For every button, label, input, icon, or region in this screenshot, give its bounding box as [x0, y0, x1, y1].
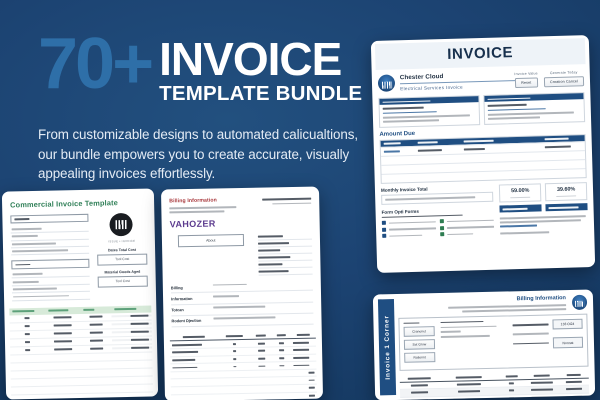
invoice-monthly-block: Monthly Invoice Total Form Opti Forms [381, 185, 495, 241]
summary-dark-buttons [500, 203, 588, 212]
billing-information-label: Billing Information [169, 197, 251, 205]
details-button[interactable] [500, 205, 542, 213]
checkbox-icon [382, 228, 386, 232]
right-field-value-0[interactable]: Tool Cost [97, 253, 147, 265]
hero-title-invoice: INVOICE [159, 38, 362, 80]
checkbox-icon [440, 233, 444, 237]
checkbox-icon [382, 234, 386, 238]
vahozer-header: Billing Information [161, 187, 319, 214]
rationnt-button[interactable]: Rationnt [404, 352, 435, 363]
submit-count-button[interactable] [546, 203, 588, 211]
address-heading-1[interactable] [11, 259, 89, 269]
invoice-items-table [380, 134, 587, 184]
checkbox-icon [440, 220, 444, 224]
vertical-card-body: Billing Information Cranenet Set Grow Ra… [398, 295, 589, 395]
invoice-note-block [500, 215, 588, 234]
invoice-action-col-0: Invoice Value Reset [514, 71, 538, 88]
percentage-box-0: 59.00% [499, 183, 541, 202]
invoice-brand-text: Chester Cloud Electrical Services Invoic… [400, 71, 515, 91]
right-field-label-0: Dates Total Cost [97, 247, 147, 252]
vahozer-items-table [170, 331, 318, 400]
vahozer-right-header [257, 196, 312, 212]
th-description [170, 333, 218, 340]
field-label: Information [171, 295, 213, 301]
commercial-top-area: ISSUE • INVOICE Dates Total Cost Tool Co… [2, 206, 156, 301]
form-options-label: Form Opti Forms [382, 206, 494, 214]
commercial-right-area: ISSUE • INVOICE Dates Total Cost Tool Co… [96, 213, 148, 300]
th-caport-sochint [400, 375, 439, 382]
th-reconntation [218, 333, 251, 340]
date-value[interactable]: 133 Oi24 [552, 318, 582, 329]
address-heading-0[interactable] [10, 214, 88, 224]
th-goods-option [45, 307, 81, 315]
vahozer-about-button[interactable]: About [178, 234, 244, 247]
th-detail [414, 138, 460, 146]
checkbox-item[interactable] [382, 226, 436, 232]
invoice-action-buttons: Invoice Value Reset Generate Today Creat… [514, 69, 584, 88]
vertical-header: Billing Information [398, 295, 587, 314]
commercial-items-table [9, 305, 153, 399]
checkbox-icon [382, 221, 386, 225]
invoice-card-chester-cloud[interactable]: INVOICE Chester Cloud Electrical Service… [371, 35, 595, 273]
th-trocar-regions [9, 308, 45, 316]
right-field-value-1[interactable]: Tool Cost [97, 275, 147, 287]
checkbox-item[interactable] [440, 225, 494, 231]
hero-block: 70+ INVOICE TEMPLATE BUNDLE From customi… [38, 34, 378, 184]
invoice-panel-1 [483, 93, 585, 125]
right-field-label-1: Material Goods Aged [97, 269, 147, 274]
checkbox-item[interactable] [382, 220, 436, 226]
hero-headline-row: 70+ INVOICE TEMPLATE BUNDLE [38, 34, 378, 106]
invoice-panel-0 [378, 95, 480, 127]
template-count: 70+ [38, 34, 151, 96]
th-quantregrown [111, 305, 151, 313]
th-cocnt [499, 373, 525, 380]
invoice-panel-body-0 [380, 103, 480, 127]
vertical-left-fields [440, 320, 507, 365]
invoice-brand-subtitle: Electrical Services Invoice [400, 83, 515, 91]
checkbox-col-left [382, 220, 437, 241]
th-rate-2 [271, 332, 291, 339]
percentage-value-1: 39.60% [549, 186, 583, 193]
th-chernel [524, 372, 558, 379]
checkbox-col-right [440, 218, 495, 239]
commercial-invoice-card[interactable]: Commercial Invoice Template ISSUE • INVO… [2, 188, 158, 399]
checkbox-item[interactable] [440, 218, 494, 224]
invoice-action-caption-0: Invoice Value [514, 71, 537, 76]
th-order [381, 139, 415, 146]
th-rate-1 [251, 332, 271, 339]
vertical-right-fields: 133 Oi24 Nonnat [512, 318, 583, 363]
invoice-detail-panels [372, 89, 591, 127]
th-charged [291, 331, 316, 338]
cranenet-button[interactable]: Cranenet [404, 326, 435, 337]
billing-information-label: Billing Information [448, 295, 566, 304]
invoice-bottom-sections: Monthly Invoice Total Form Opti Forms [375, 178, 595, 241]
th-cncrtit [559, 371, 589, 378]
address-field[interactable] [11, 247, 89, 256]
field-label: Totcan [171, 307, 213, 313]
vertical-buttons-col: Cranenet Set Grow Rationnt [403, 322, 435, 366]
vertical-billing-block: Billing Information [448, 295, 566, 312]
th-date-paid [541, 135, 585, 143]
hero-paragraph: From customizable designs to automated c… [38, 125, 378, 184]
hero-title-group: INVOICE TEMPLATE BUNDLE [159, 34, 362, 106]
commercial-logo-caption: ISSUE • INVOICE [97, 238, 147, 243]
invoice-panel-body-1 [485, 100, 585, 124]
vahozer-field-list: Billing Information Totcan Rodent Djecti… [163, 275, 322, 328]
field-row[interactable]: Rodent Djection [171, 313, 313, 327]
invoice-checkbox-grid [382, 218, 495, 241]
chester-cloud-logo-icon [378, 75, 395, 92]
invoice-action-col-1: Generate Today Creation Cancel [544, 70, 584, 87]
percentage-value-0: 59.00% [503, 188, 537, 195]
field-label: Billing [171, 284, 213, 290]
vahozer-right-rows [257, 226, 312, 275]
status-value[interactable]: Nonnat [553, 337, 583, 348]
vertical-invoice-card[interactable]: Invoice 1 Corner Billing Information Cra… [373, 290, 595, 400]
checkbox-icon [440, 226, 444, 230]
percentage-box-1: 39.60% [545, 182, 587, 201]
checkbox-item[interactable] [382, 233, 436, 239]
vertical-detail-panel: Cranenet Set Grow Rationnt 133 Oi24 [398, 314, 588, 371]
invoice-summary-block: 59.00% 39.60% [499, 182, 588, 237]
vertical-logo-icon [572, 295, 587, 310]
field-label: Rodent Djection [171, 318, 213, 324]
commercial-address-blocks [10, 214, 90, 301]
hero-title-bundle: TEMPLATE BUNDLE [159, 83, 362, 106]
poster-canvas: 70+ INVOICE TEMPLATE BUNDLE From customi… [0, 0, 600, 400]
vahozer-invoice-card[interactable]: Billing Information VAHOZER About [161, 187, 323, 400]
vahozer-billing-block: Billing Information [169, 197, 251, 213]
checkbox-item[interactable] [440, 231, 494, 237]
percentage-boxes: 59.00% 39.60% [499, 182, 587, 203]
creation-cancel-button[interactable]: Creation Cancel [544, 76, 584, 87]
vertical-side-label: Invoice 1 Corner [383, 315, 391, 380]
reset-button[interactable]: Reset [515, 77, 539, 88]
invoice-action-caption-1: Generate Today [544, 70, 584, 75]
vertical-side-banner: Invoice 1 Corner [378, 299, 396, 395]
set-grow-button[interactable]: Set Grow [404, 339, 435, 350]
commercial-logo-icon [110, 213, 133, 236]
vertical-items-table [400, 371, 590, 400]
address-field[interactable] [12, 292, 90, 301]
summary-row [258, 268, 313, 276]
th-rates [80, 306, 111, 314]
